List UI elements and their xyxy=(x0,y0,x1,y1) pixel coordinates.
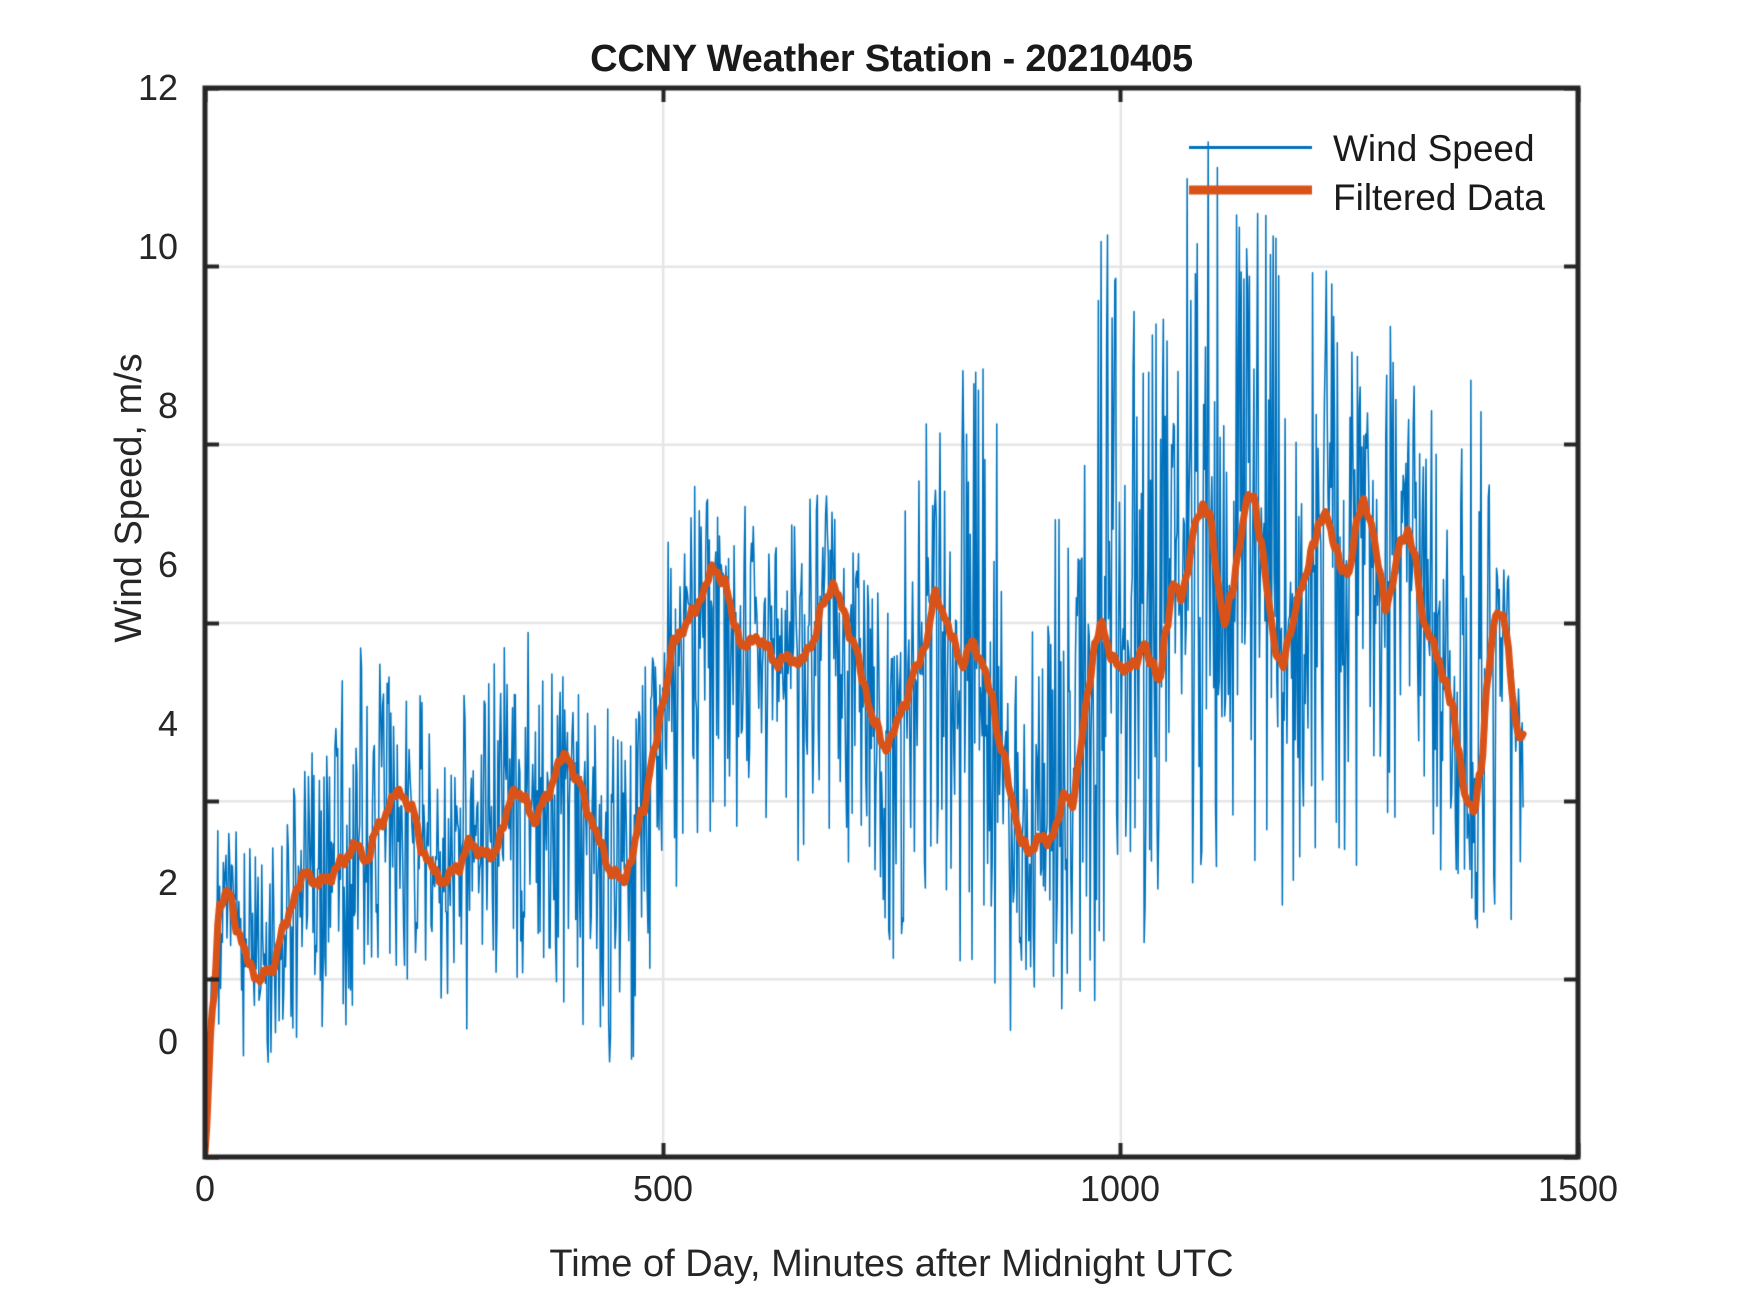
y-tick-label-0: 0 xyxy=(58,1021,178,1063)
y-tick-label-8: 8 xyxy=(58,385,178,427)
x-axis-label: Time of Day, Minutes after Midnight UTC xyxy=(205,1243,1578,1286)
y-tick-label-6: 6 xyxy=(58,544,178,586)
legend-label-wind-speed[interactable]: Wind Speed xyxy=(1333,128,1535,170)
y-tick-label-10: 10 xyxy=(58,226,178,268)
legend-label-filtered-data[interactable]: Filtered Data xyxy=(1333,177,1545,219)
figure-canvas: CCNY Weather Station - 20210405 Time of … xyxy=(0,0,1750,1313)
y-tick-label-4: 4 xyxy=(58,703,178,745)
y-tick-label-12: 12 xyxy=(58,67,178,109)
y-tick-label-2: 2 xyxy=(58,862,178,904)
x-tick-label-500: 500 xyxy=(563,1168,763,1210)
x-tick-label-1500: 1500 xyxy=(1478,1168,1678,1210)
x-tick-label-0: 0 xyxy=(105,1168,305,1210)
x-tick-label-1000: 1000 xyxy=(1020,1168,1220,1210)
